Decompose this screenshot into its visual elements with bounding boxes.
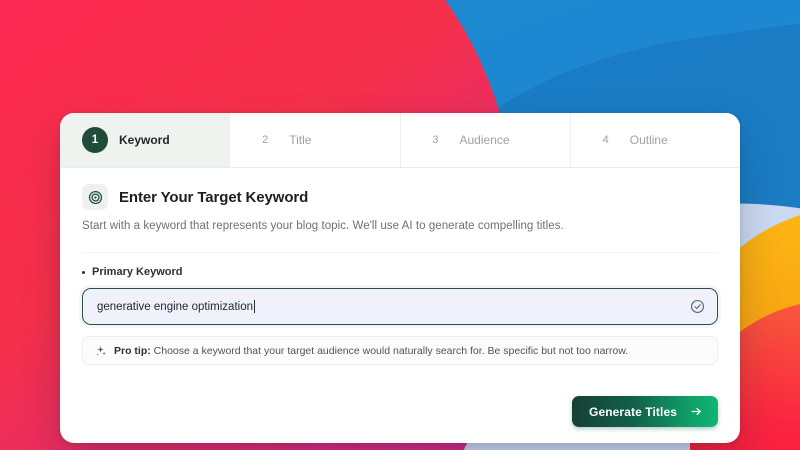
generate-titles-label: Generate Titles <box>589 405 677 419</box>
step-number-badge: 1 <box>82 127 108 153</box>
tab-outline[interactable]: 4 Outline <box>571 113 740 167</box>
keyword-input-value-wrap: generative engine optimization <box>97 300 690 313</box>
wizard-card: 1 Keyword 2 Title 3 Audience 4 Outline <box>60 113 740 443</box>
section-divider <box>82 252 718 253</box>
field-label-text: Primary Keyword <box>92 266 182 278</box>
pro-tip-body: Choose a keyword that your target audien… <box>151 345 628 357</box>
tab-audience[interactable]: 3 Audience <box>401 113 571 167</box>
keyword-input[interactable]: generative engine optimization <box>82 288 718 325</box>
tab-label: Title <box>289 133 311 147</box>
step-tabs: 1 Keyword 2 Title 3 Audience 4 Outline <box>60 113 740 168</box>
pro-tip-prefix: Pro tip: <box>114 345 151 357</box>
target-icon <box>82 184 108 210</box>
sparkles-icon <box>95 345 107 357</box>
tab-label: Outline <box>630 133 668 147</box>
keyword-input-value: generative engine optimization <box>97 301 253 313</box>
check-circle-icon <box>690 299 705 314</box>
text-caret <box>254 300 255 313</box>
tab-title[interactable]: 2 Title <box>230 113 400 167</box>
pro-tip-banner: Pro tip: Choose a keyword that your targ… <box>82 336 718 365</box>
step-number-badge: 4 <box>593 127 619 153</box>
tab-label: Audience <box>460 133 510 147</box>
pro-tip-text: Pro tip: Choose a keyword that your targ… <box>114 345 628 357</box>
tab-keyword[interactable]: 1 Keyword <box>60 113 230 167</box>
section-header: Enter Your Target Keyword <box>82 184 718 210</box>
tab-label: Keyword <box>119 133 170 147</box>
generate-titles-button[interactable]: Generate Titles <box>572 396 718 427</box>
primary-keyword-label: Primary Keyword <box>82 266 718 278</box>
step-number-badge: 2 <box>252 127 278 153</box>
card-body: Enter Your Target Keyword Start with a k… <box>60 168 740 443</box>
section-subtitle: Start with a keyword that represents you… <box>82 220 718 232</box>
card-footer: Generate Titles <box>82 396 718 443</box>
bullet-icon <box>82 271 85 274</box>
step-number-badge: 3 <box>423 127 449 153</box>
desktop-wallpaper: 1 Keyword 2 Title 3 Audience 4 Outline <box>0 0 800 450</box>
page-title: Enter Your Target Keyword <box>119 189 308 206</box>
arrow-right-icon <box>690 405 703 418</box>
